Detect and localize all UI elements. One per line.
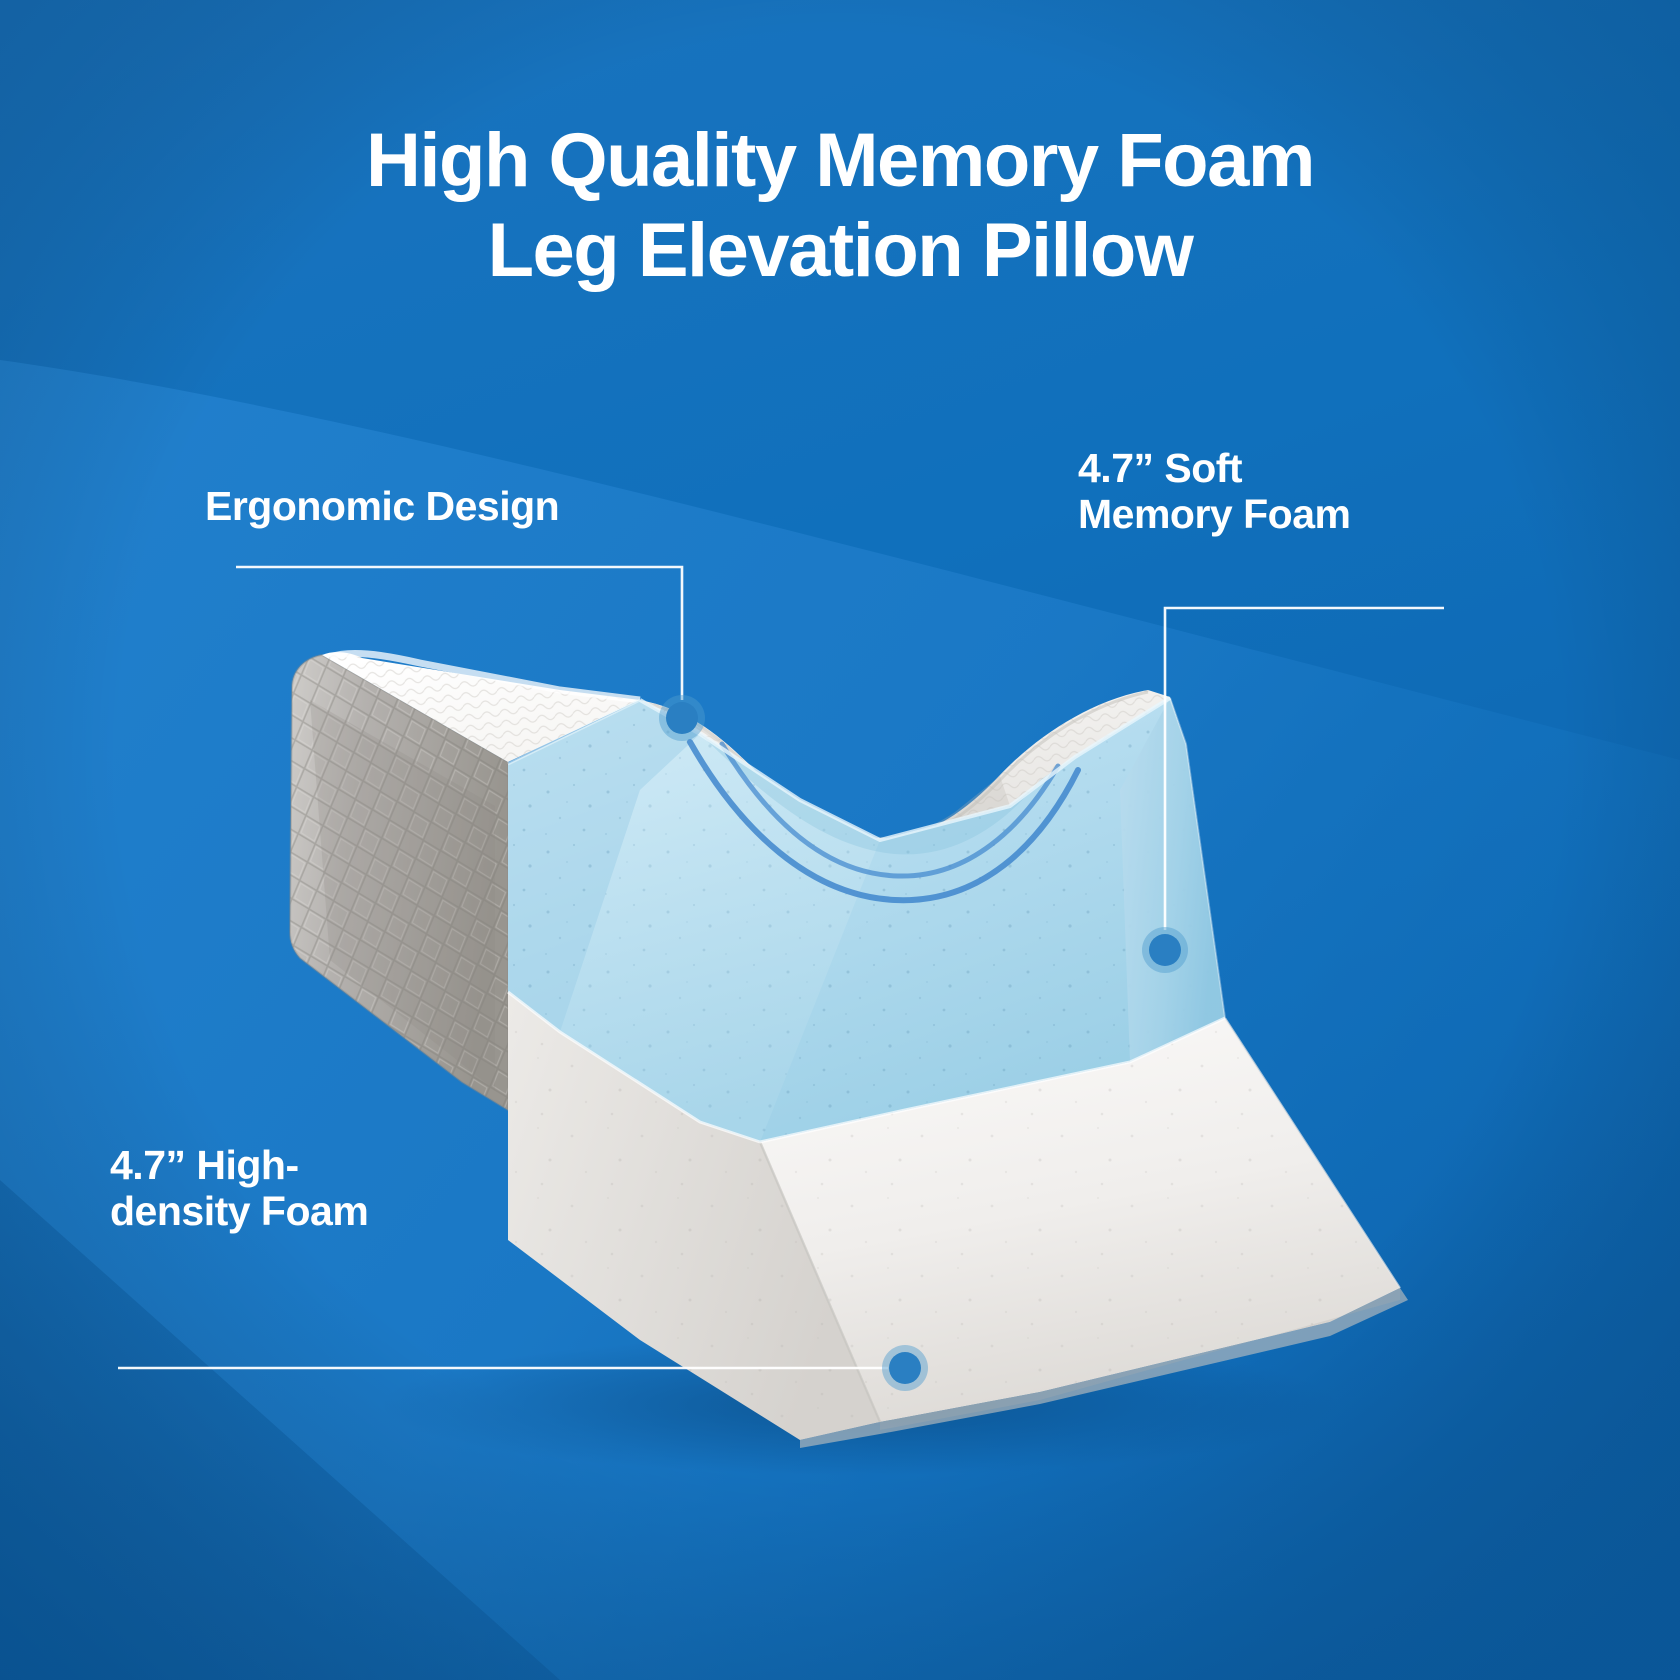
callout-dot-soft-memory-foam[interactable]: [1142, 927, 1188, 973]
callout-line-ergonomic-design: [236, 567, 682, 700]
callout-label-ergonomic-design: Ergonomic Design: [205, 485, 559, 528]
infographic-canvas: High Quality Memory Foam Leg Elevation P…: [0, 0, 1680, 1680]
callout-line-soft-memory-foam: [1165, 608, 1444, 930]
callout-dot-ergonomic-design[interactable]: [659, 695, 705, 741]
callout-label-soft-memory-foam: 4.7” Soft Memory Foam: [1078, 446, 1350, 538]
callout-dot-high-density-foam[interactable]: [882, 1345, 928, 1391]
page-title: High Quality Memory Foam Leg Elevation P…: [0, 116, 1680, 295]
callout-label-high-density-foam: 4.7” High- density Foam: [110, 1143, 368, 1235]
